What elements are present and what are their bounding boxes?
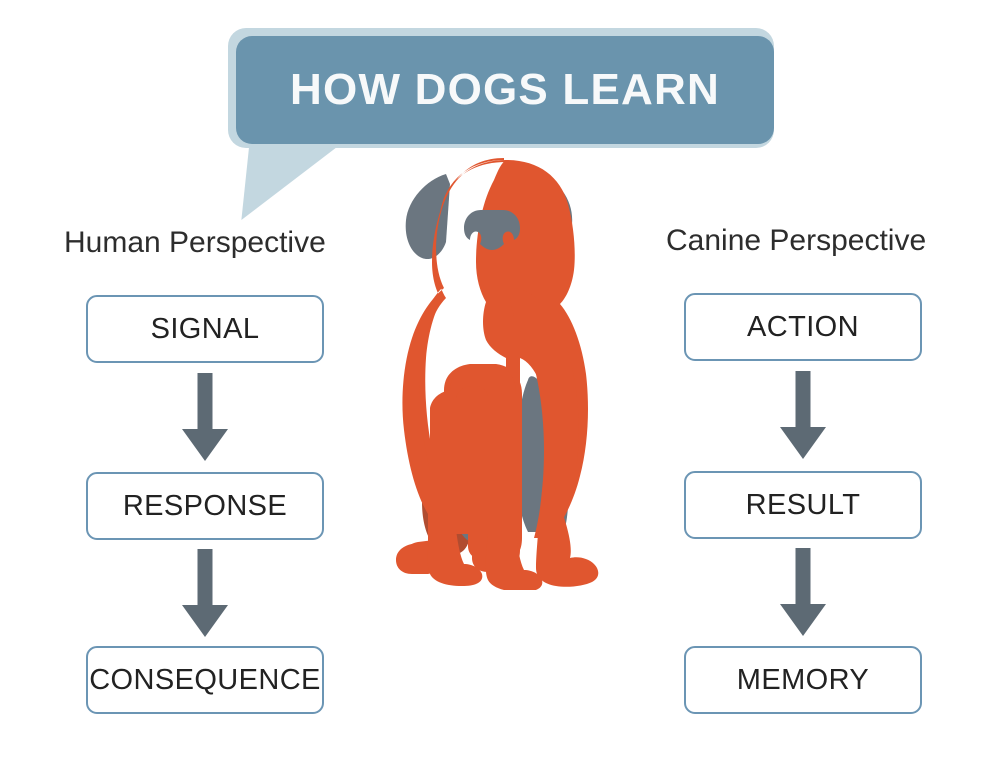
page-title: HOW DOGS LEARN	[290, 68, 720, 112]
flow-box-memory[interactable]: MEMORY	[684, 646, 922, 714]
dog-left-ear-icon	[406, 174, 450, 259]
flow-box-consequence[interactable]: CONSEQUENCE	[86, 646, 324, 714]
flow-box-signal[interactable]: SIGNAL	[86, 295, 324, 363]
flow-box-label: MEMORY	[737, 666, 869, 695]
flow-arrow-result-to-memory	[780, 548, 826, 636]
flow-box-label: RESULT	[746, 491, 861, 520]
flow-box-label: CONSEQUENCE	[89, 666, 321, 695]
flow-arrow-action-to-result	[780, 371, 826, 459]
flow-box-response[interactable]: RESPONSE	[86, 472, 324, 540]
flow-box-action[interactable]: ACTION	[684, 293, 922, 361]
flow-box-result[interactable]: RESULT	[684, 471, 922, 539]
flow-box-label: ACTION	[747, 313, 859, 342]
flow-box-label: RESPONSE	[123, 492, 287, 521]
column-heading-human: Human Perspective	[64, 228, 326, 258]
flow-box-label: SIGNAL	[151, 315, 260, 344]
speech-bubble-body: HOW DOGS LEARN	[236, 36, 774, 144]
infographic-canvas: HOW DOGS LEARN Human Perspective Canine …	[0, 0, 1000, 773]
flow-arrow-response-to-consequence	[182, 549, 228, 637]
dog-illustration	[388, 158, 624, 590]
flow-arrow-signal-to-response	[182, 373, 228, 461]
column-heading-canine: Canine Perspective	[666, 226, 926, 256]
speech-bubble-tail-icon	[241, 132, 356, 220]
